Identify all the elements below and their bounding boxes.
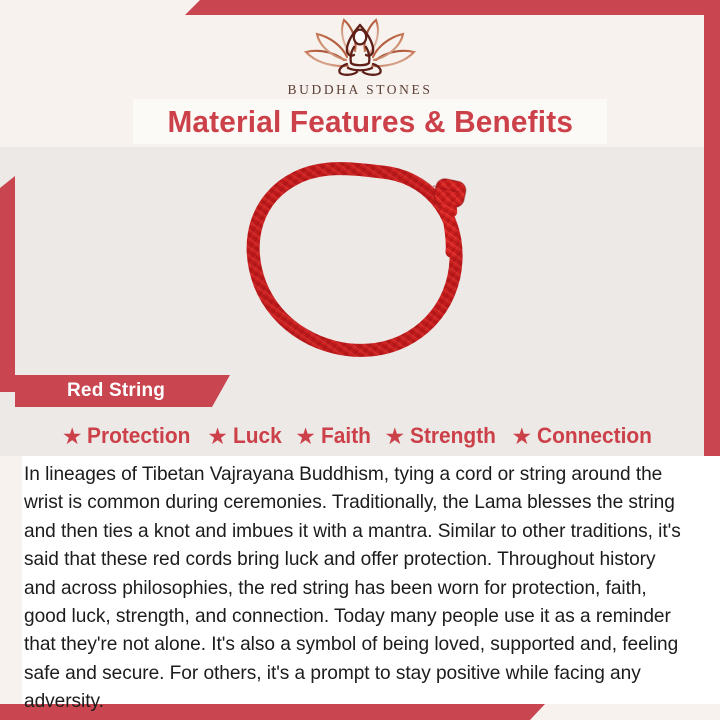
star-icon: ★ <box>207 425 228 448</box>
page-title: Material Features & Benefits <box>167 104 573 140</box>
brand-logo: BUDDHA STONES <box>0 16 720 98</box>
lotus-meditation-icon <box>301 16 419 78</box>
star-icon: ★ <box>384 425 405 448</box>
benefit-item-strength: ★ Strength <box>373 423 500 449</box>
brand-name: BUDDHA STONES <box>288 82 433 98</box>
star-icon: ★ <box>512 425 533 448</box>
benefit-item-protection: ★ Protection <box>62 423 196 449</box>
star-icon: ★ <box>62 425 83 448</box>
product-image <box>0 150 720 372</box>
benefit-item-luck: ★ Luck <box>196 423 284 449</box>
page-title-bar: Material Features & Benefits <box>133 99 607 144</box>
benefit-item-connection: ★ Connection <box>501 423 659 449</box>
benefit-item-faith: ★ Faith <box>284 423 373 449</box>
benefit-label: Connection <box>537 423 652 449</box>
description-text: In lineages of Tibetan Vajrayana Buddhis… <box>24 460 690 716</box>
product-name-banner: Red String <box>15 375 230 407</box>
product-name: Red String <box>67 380 165 402</box>
benefit-label: Strength <box>410 423 496 449</box>
benefit-label: Luck <box>233 423 282 449</box>
star-icon: ★ <box>295 425 316 448</box>
benefit-label: Faith <box>321 423 371 449</box>
benefit-label: Protection <box>87 423 190 449</box>
benefits-row: ★ Protection ★ Luck ★ Faith ★ Strength ★… <box>0 419 720 453</box>
infographic-page: BUDDHA STONES Material Features & Benefi… <box>0 0 720 720</box>
